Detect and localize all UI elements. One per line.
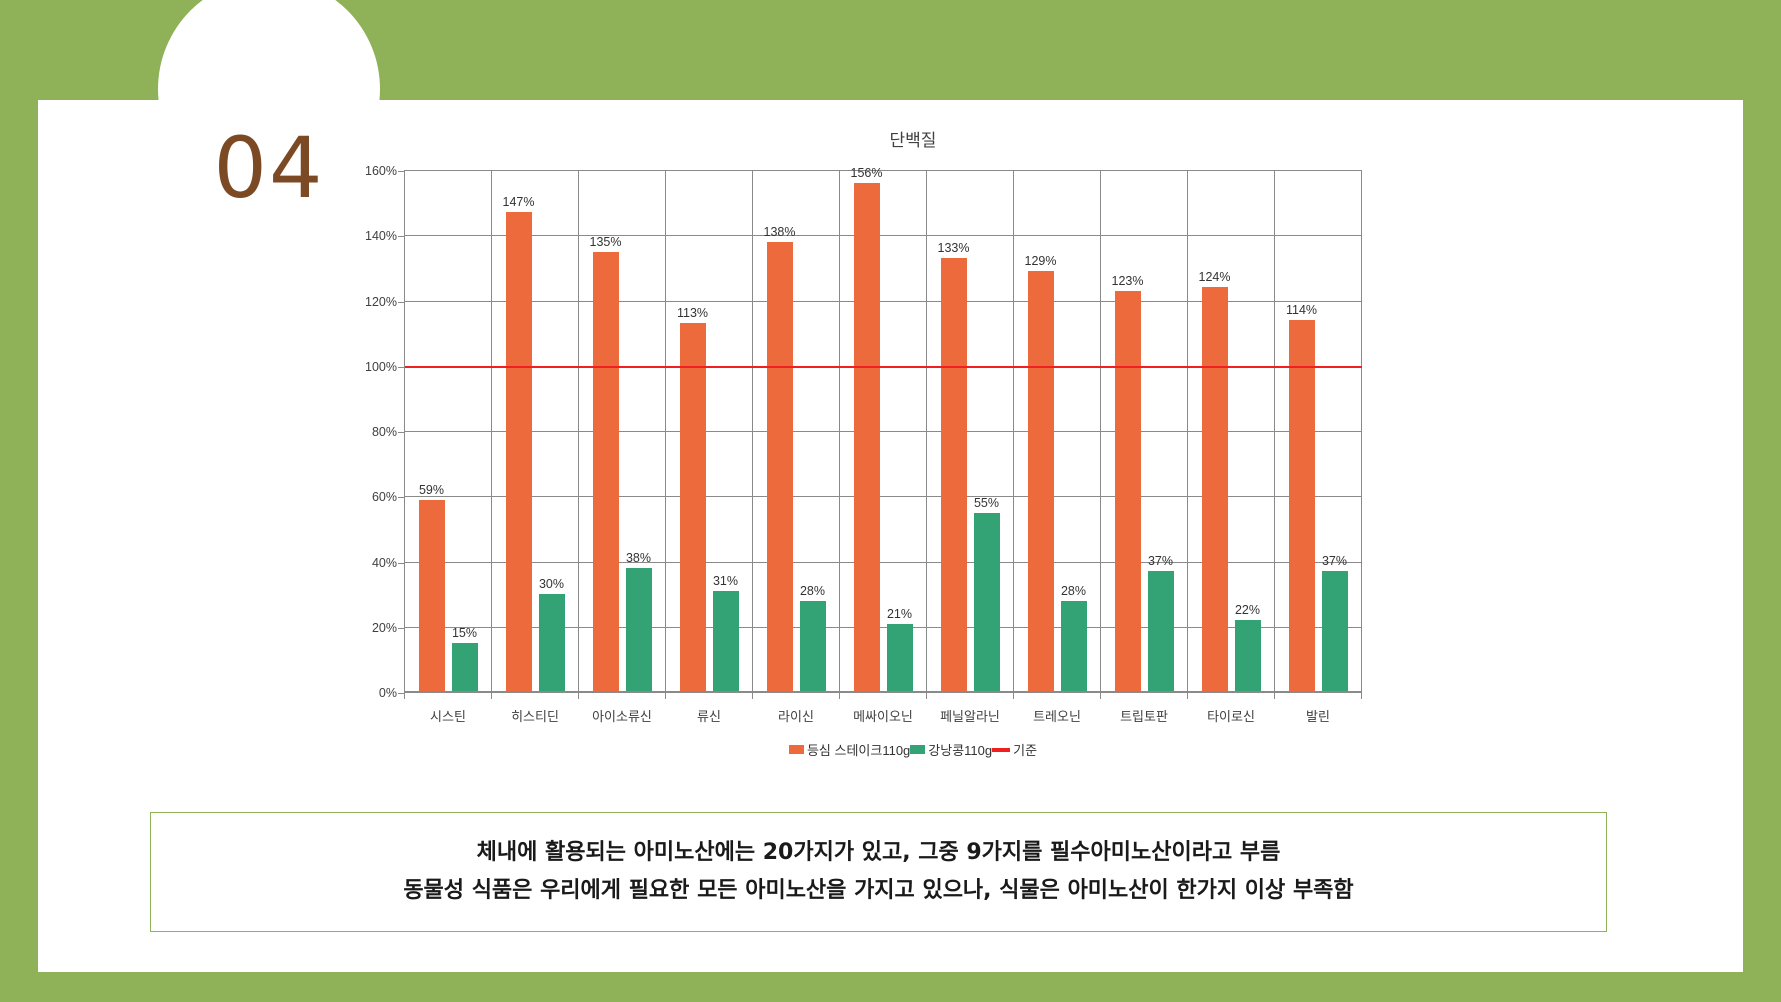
bar[interactable]: 124% — [1202, 287, 1228, 692]
bar[interactable]: 30% — [539, 594, 565, 692]
bar-value-label: 37% — [1322, 554, 1347, 568]
category-column: 129%28%트레오닌 — [1014, 170, 1101, 692]
bar-value-label: 114% — [1286, 303, 1317, 317]
bar-value-label: 59% — [419, 483, 444, 497]
bar-group: 133%55% — [927, 170, 1013, 692]
bar[interactable]: 113% — [680, 323, 706, 692]
legend-label: 강낭콩110g — [928, 740, 992, 759]
chart-title: 단백질 — [338, 126, 1488, 151]
bar-value-label: 31% — [713, 574, 738, 588]
bar-value-label: 133% — [938, 241, 970, 255]
x-axis-category-label: 라이신 — [753, 706, 839, 725]
bar[interactable]: 129% — [1028, 271, 1054, 692]
bar-value-label: 38% — [626, 551, 651, 565]
x-axis-tick-mark — [1187, 692, 1188, 699]
bar-value-label: 15% — [452, 626, 477, 640]
bar[interactable]: 37% — [1322, 571, 1348, 692]
category-columns: 59%15%시스틴147%30%히스티딘135%38%아이소류신113%31%류… — [405, 170, 1362, 692]
bar[interactable]: 37% — [1148, 571, 1174, 692]
bar[interactable]: 38% — [626, 568, 652, 692]
gridline: 0% — [405, 692, 1362, 693]
x-axis-tick-mark — [1013, 692, 1014, 699]
category-column: 133%55%페닐알라닌 — [927, 170, 1014, 692]
note-box: 체내에 활용되는 아미노산에는 20가지가 있고, 그중 9가지를 필수아미노산… — [150, 812, 1607, 932]
y-axis-tick-label: 20% — [372, 621, 397, 635]
chart-legend: 등심 스테이크110g강낭콩110g기준 — [338, 740, 1488, 759]
bar[interactable]: 59% — [419, 500, 445, 692]
y-axis-tick-mark — [398, 367, 405, 368]
bar[interactable]: 123% — [1115, 291, 1141, 692]
bar-group: 114%37% — [1275, 170, 1361, 692]
bar-value-label: 30% — [539, 577, 564, 591]
bar-group: 156%21% — [840, 170, 926, 692]
x-axis-category-label: 트레오닌 — [1014, 706, 1100, 725]
bar-value-label: 22% — [1235, 603, 1260, 617]
bar[interactable]: 156% — [854, 183, 880, 692]
bar-value-label: 124% — [1199, 270, 1231, 284]
legend-item[interactable]: 등심 스테이크110g — [789, 740, 910, 759]
x-axis-category-label: 류신 — [666, 706, 752, 725]
bar[interactable]: 21% — [887, 624, 913, 693]
x-axis-tick-mark — [1274, 692, 1275, 699]
bar-group: 129%28% — [1014, 170, 1100, 692]
bar[interactable]: 138% — [767, 242, 793, 692]
x-axis-tick-mark — [1361, 692, 1362, 699]
bar-group: 147%30% — [492, 170, 578, 692]
x-axis-tick-mark — [1100, 692, 1101, 699]
bar[interactable]: 135% — [593, 252, 619, 692]
bar-value-label: 123% — [1112, 274, 1144, 288]
y-axis-tick-label: 80% — [372, 425, 397, 439]
y-axis-tick-mark — [398, 302, 405, 303]
legend-swatch — [992, 748, 1010, 752]
legend-label: 기준 — [1013, 740, 1037, 759]
x-axis-category-label: 아이소류신 — [579, 706, 665, 725]
category-column: 114%37%발린 — [1275, 170, 1362, 692]
bar-value-label: 28% — [1061, 584, 1086, 598]
bar-group: 124%22% — [1188, 170, 1274, 692]
x-axis-tick-mark — [578, 692, 579, 699]
bar[interactable]: 133% — [941, 258, 967, 692]
y-axis-tick-label: 140% — [365, 229, 397, 243]
bar-value-label: 129% — [1025, 254, 1057, 268]
y-axis-tick-label: 60% — [372, 490, 397, 504]
bar[interactable]: 147% — [506, 212, 532, 692]
category-column: 156%21%메싸이오닌 — [840, 170, 927, 692]
category-column: 124%22%타이로신 — [1188, 170, 1275, 692]
bar[interactable]: 114% — [1289, 320, 1315, 692]
bar-value-label: 55% — [974, 496, 999, 510]
category-column: 123%37%트립토판 — [1101, 170, 1188, 692]
legend-swatch — [910, 745, 925, 754]
y-axis-tick-label: 100% — [365, 360, 397, 374]
x-axis-category-label: 트립토판 — [1101, 706, 1187, 725]
bar-value-label: 147% — [503, 195, 535, 209]
bar-value-label: 113% — [677, 306, 708, 320]
bar[interactable]: 31% — [713, 591, 739, 692]
bar[interactable]: 15% — [452, 643, 478, 692]
y-axis-tick-mark — [398, 171, 405, 172]
x-axis-category-label: 시스틴 — [405, 706, 491, 725]
bar-group: 59%15% — [405, 170, 491, 692]
y-axis-tick-label: 40% — [372, 556, 397, 570]
x-axis-tick-mark — [926, 692, 927, 699]
category-column: 138%28%라이신 — [753, 170, 840, 692]
x-axis-category-label: 메싸이오닌 — [840, 706, 926, 725]
category-column: 59%15%시스틴 — [405, 170, 492, 692]
plot-area: 0%20%40%60%80%100%120%140%160% 59%15%시스틴… — [404, 170, 1362, 692]
reference-line-100 — [405, 366, 1362, 368]
x-axis-tick-mark — [752, 692, 753, 699]
bar-value-label: 138% — [764, 225, 796, 239]
y-axis-tick-label: 120% — [365, 295, 397, 309]
x-axis-tick-mark — [839, 692, 840, 699]
protein-bar-chart: 단백질 0%20%40%60%80%100%120%140%160% 59%15… — [338, 120, 1488, 820]
slide-number: 04 — [158, 126, 380, 210]
legend-item[interactable]: 강낭콩110g — [910, 740, 992, 759]
legend-label: 등심 스테이크110g — [807, 740, 910, 759]
bar-value-label: 135% — [590, 235, 622, 249]
bar-value-label: 156% — [851, 166, 883, 180]
y-axis-tick-mark — [398, 563, 405, 564]
bar[interactable]: 55% — [974, 513, 1000, 692]
x-axis-category-label: 타이로신 — [1188, 706, 1274, 725]
bar-value-label: 28% — [800, 584, 825, 598]
x-axis-tick-mark — [404, 692, 405, 699]
y-axis-tick-label: 0% — [379, 686, 397, 700]
x-axis-category-label: 히스티딘 — [492, 706, 578, 725]
bar[interactable]: 28% — [1061, 601, 1087, 692]
x-axis-category-label: 발린 — [1275, 706, 1361, 725]
y-axis-tick-mark — [398, 236, 405, 237]
category-column: 135%38%아이소류신 — [579, 170, 666, 692]
y-axis-tick-mark — [398, 497, 405, 498]
legend-swatch — [789, 745, 804, 754]
x-axis-category-label: 페닐알라닌 — [927, 706, 1013, 725]
bar[interactable]: 28% — [800, 601, 826, 692]
note-line-1: 체내에 활용되는 아미노산에는 20가지가 있고, 그중 9가지를 필수아미노산… — [477, 834, 1281, 873]
bar-group: 123%37% — [1101, 170, 1187, 692]
bar[interactable]: 22% — [1235, 620, 1261, 692]
slide: 04 단백질 0%20%40%60%80%100%120%140%160% 59… — [0, 0, 1781, 1002]
y-axis-tick-mark — [398, 628, 405, 629]
bar-group: 138%28% — [753, 170, 839, 692]
category-column: 113%31%류신 — [666, 170, 753, 692]
legend-item[interactable]: 기준 — [992, 740, 1037, 759]
note-line-2: 동물성 식품은 우리에게 필요한 모든 아미노산을 가지고 있으나, 식물은 아… — [403, 872, 1353, 911]
x-axis — [405, 691, 1362, 692]
x-axis-tick-mark — [491, 692, 492, 699]
bar-value-label: 37% — [1148, 554, 1173, 568]
x-axis-tick-mark — [665, 692, 666, 699]
bar-group: 135%38% — [579, 170, 665, 692]
category-column: 147%30%히스티딘 — [492, 170, 579, 692]
bar-group: 113%31% — [666, 170, 752, 692]
content-card: 04 단백질 0%20%40%60%80%100%120%140%160% 59… — [38, 100, 1743, 972]
y-axis-tick-mark — [398, 432, 405, 433]
bar-value-label: 21% — [887, 607, 912, 621]
